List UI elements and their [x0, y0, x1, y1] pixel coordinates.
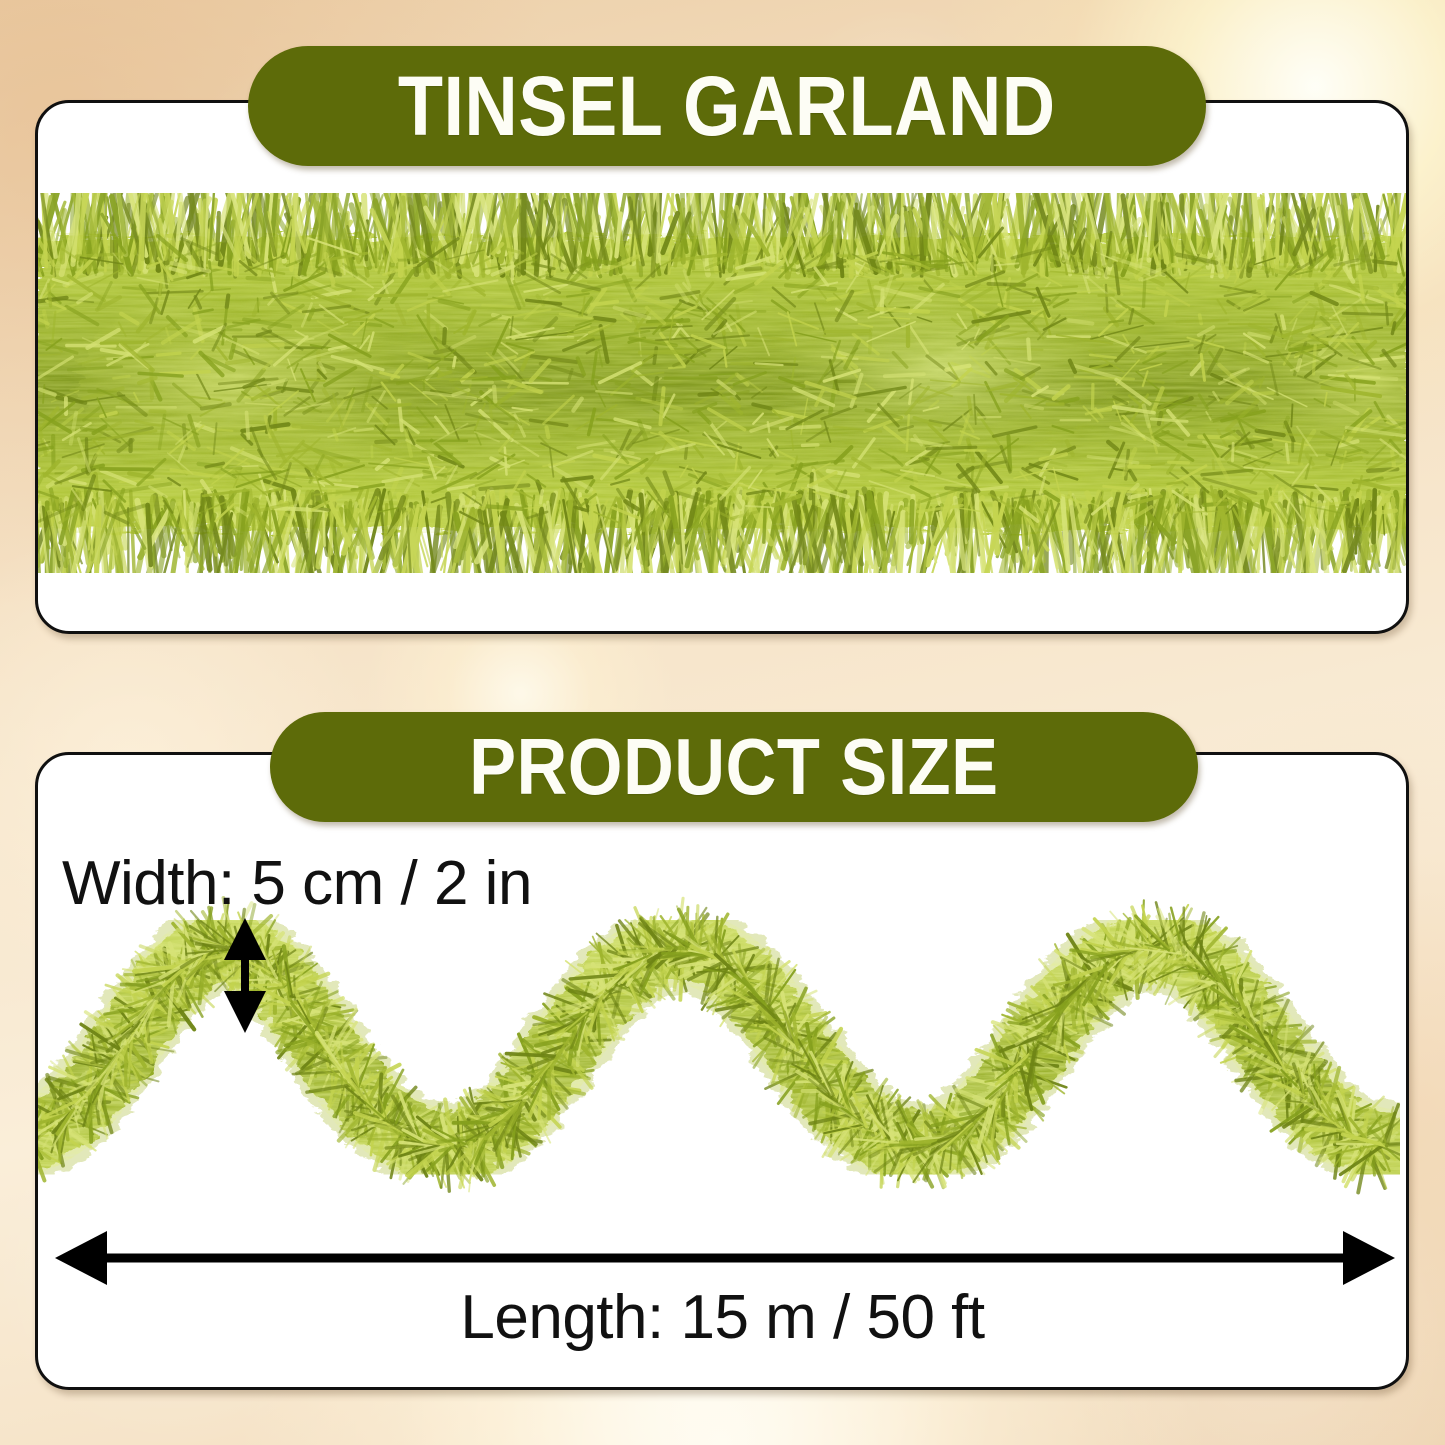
product-infographic: TINSEL GARLAND PRODUCT SIZE — [0, 0, 1445, 1445]
product-size-badge: PRODUCT SIZE — [270, 712, 1198, 822]
tinsel-garland-card — [35, 100, 1409, 634]
width-label: Width: 5 cm / 2 in — [62, 848, 532, 919]
vertical-double-arrow-icon — [205, 918, 285, 1033]
tinsel-strip-image — [35, 193, 1409, 573]
product-size-badge-label: PRODUCT SIZE — [469, 721, 998, 813]
horizontal-double-arrow-icon — [55, 1228, 1395, 1288]
tinsel-garland-badge-label: TINSEL GARLAND — [398, 58, 1056, 155]
tinsel-garland-badge: TINSEL GARLAND — [248, 46, 1206, 166]
length-label: Length: 15 m / 50 ft — [0, 1282, 1445, 1353]
